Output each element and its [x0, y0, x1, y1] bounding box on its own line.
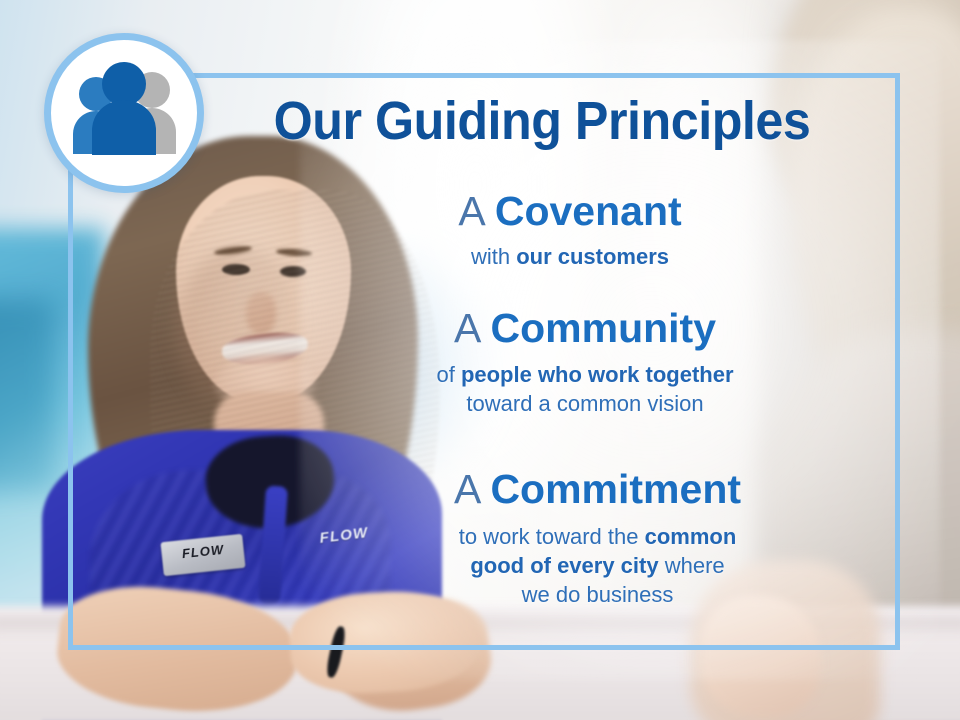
principle-commitment-keyword: Commitment	[490, 466, 741, 512]
principle-commitment: A Commitment to work toward the commongo…	[320, 464, 875, 609]
principle-commitment-heading: A Commitment	[320, 464, 875, 514]
principle-covenant-article: A	[458, 188, 483, 234]
principle-covenant: A Covenant with our customers	[270, 186, 870, 271]
principle-community-subtext: of people who work togethertoward a comm…	[300, 360, 870, 418]
principle-community-heading: A Community	[300, 303, 870, 353]
background-blue-display-shadow	[0, 300, 55, 490]
poster-root: FLOW FLOW Our Guiding Principles A Coven…	[0, 0, 960, 720]
people-group-icon	[62, 58, 186, 168]
principle-community: A Community of people who work togethert…	[300, 303, 870, 418]
principle-covenant-keyword: Covenant	[495, 188, 682, 234]
principle-commitment-subtext: to work toward the commongood of every c…	[320, 522, 875, 609]
principle-community-article: A	[454, 305, 479, 351]
principle-community-keyword: Community	[491, 305, 717, 351]
page-title: Our Guiding Principles	[235, 92, 849, 150]
principle-covenant-heading: A Covenant	[270, 186, 870, 236]
principle-commitment-article: A	[454, 466, 479, 512]
principle-covenant-subtext: with our customers	[270, 242, 870, 271]
